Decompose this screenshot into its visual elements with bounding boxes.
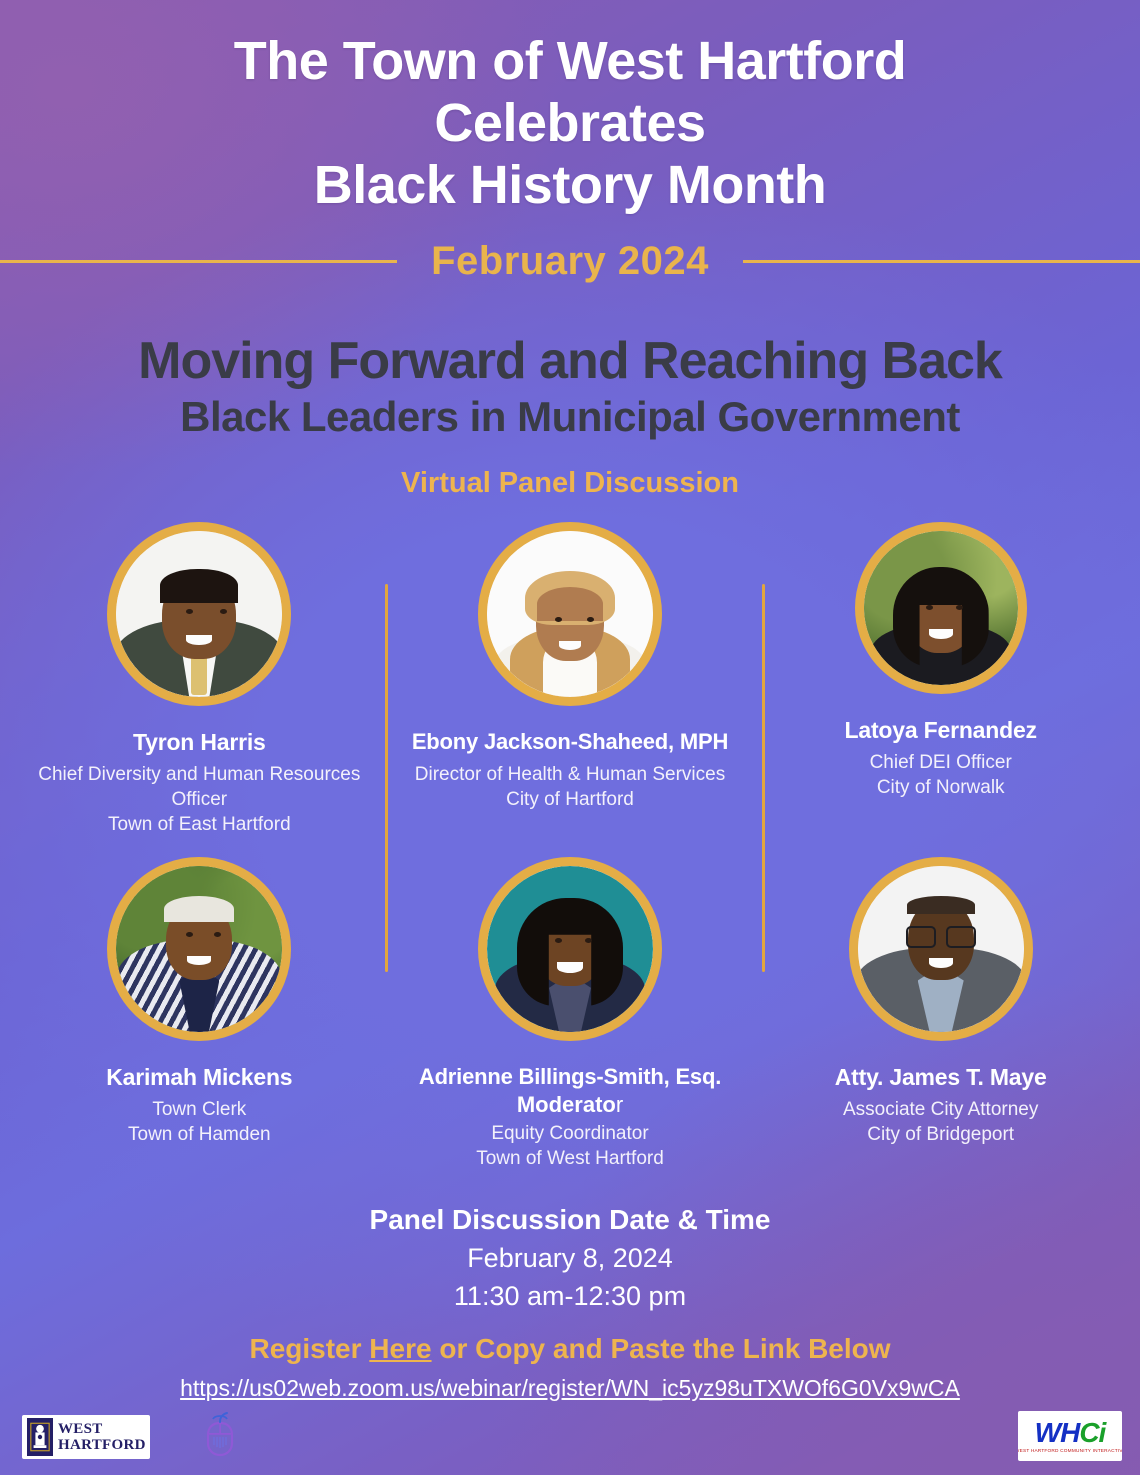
panelist-card: Karimah Mickens Town Clerk Town of Hamde… [14, 857, 385, 1147]
panelist-card: Ebony Jackson-Shaheed, MPH Director of H… [385, 522, 756, 812]
avatar [478, 857, 662, 1041]
panelist-org: Town of West Hartford [391, 1146, 750, 1171]
registration-prefix: Register [249, 1333, 369, 1364]
panelist-org: Town of East Hartford [20, 812, 379, 837]
panelist-name: Tyron Harris [20, 728, 379, 756]
divider-rule-right [743, 260, 1140, 263]
schedule-time: 11:30 am-12:30 pm [0, 1277, 1140, 1315]
registration-link-row: https://us02web.zoom.us/webinar/register… [0, 1373, 1140, 1403]
panelist-org: City of Hartford [391, 787, 750, 812]
avatar-wrap [20, 857, 379, 1041]
moderator-role: Moderator [391, 1091, 750, 1119]
registration-callout: Register Here or Copy and Paste the Link… [0, 1331, 1140, 1367]
panelist-row-1: Tyron Harris Chief Diversity and Human R… [14, 522, 1126, 837]
panelist-org: Town of Hamden [20, 1122, 379, 1147]
portrait-james-t-maye [858, 866, 1024, 1032]
event-subtitle: Black Leaders in Municipal Government [0, 392, 1140, 442]
schedule-block: Panel Discussion Date & Time February 8,… [0, 1201, 1140, 1315]
panelist-name: Ebony Jackson-Shaheed, MPH [391, 728, 750, 756]
logo-whci: WHCi WEST HARTFORD COMMUNITY INTERACTIVE [1018, 1411, 1122, 1461]
panelist-name: Adrienne Billings-Smith, Esq. [391, 1063, 750, 1091]
glasses-icon [906, 926, 976, 950]
avatar-wrap [761, 857, 1120, 1041]
logo-whci-wordmark: WHCi [1035, 1418, 1106, 1448]
avatar [107, 857, 291, 1041]
schedule-date: February 8, 2024 [0, 1239, 1140, 1277]
logo-whci-ci: Ci [1079, 1417, 1105, 1448]
title-block: Moving Forward and Reaching Back Black L… [0, 332, 1140, 500]
header-line-3: Black History Month [0, 154, 1140, 216]
panelist-org: City of Norwalk [761, 775, 1120, 800]
schedule-heading: Panel Discussion Date & Time [0, 1201, 1140, 1239]
avatar [478, 522, 662, 706]
panelist-card: Latoya Fernandez Chief DEI Officer City … [755, 522, 1126, 800]
register-here-link[interactable]: Here [369, 1333, 431, 1364]
logo-whci-wh: WH [1035, 1417, 1080, 1448]
moderator-role-bold: Moderato [517, 1092, 616, 1117]
logo-whci-tagline: WEST HARTFORD COMMUNITY INTERACTIVE [1018, 1448, 1122, 1454]
avatar [849, 857, 1033, 1041]
avatar-wrap [20, 522, 379, 706]
zoom-webinar-url[interactable]: https://us02web.zoom.us/webinar/register… [180, 1375, 960, 1401]
panelist-title-line-1: Associate City Attorney [761, 1097, 1120, 1122]
panelist-card: Atty. James T. Maye Associate City Attor… [755, 857, 1126, 1147]
poster-canvas: The Town of West Hartford Celebrates Bla… [0, 0, 1140, 1475]
avatar [855, 522, 1027, 694]
panelist-name: Atty. James T. Maye [761, 1063, 1120, 1091]
panelist-title-line-2: Officer [20, 787, 379, 812]
portrait-adrienne-billings-smith [487, 866, 653, 1032]
panelist-title-line-1: Chief DEI Officer [761, 750, 1120, 775]
logo-wh-line-1: WEST [58, 1421, 146, 1437]
portrait-karimah-mickens [116, 866, 282, 1032]
logo-west-hartford: WEST HARTFORD [22, 1415, 150, 1459]
column-divider-1 [385, 584, 388, 972]
panelist-title-line-1: Town Clerk [20, 1097, 379, 1122]
avatar-wrap [391, 522, 750, 706]
panelist-org: City of Bridgeport [761, 1122, 1120, 1147]
mouse-cursor-icon [203, 1409, 237, 1457]
moderator-role-thin: r [616, 1092, 623, 1117]
portrait-tyron-harris [116, 531, 282, 697]
panelist-title-line-1: Equity Coordinator [391, 1121, 750, 1146]
panelist-name: Karimah Mickens [20, 1063, 379, 1091]
portrait-latoya-fernandez [864, 531, 1018, 685]
panelist-grid: Tyron Harris Chief Diversity and Human R… [0, 522, 1140, 1171]
panelist-card-moderator: Adrienne Billings-Smith, Esq. Moderator … [385, 857, 756, 1171]
divider-rule-left [0, 260, 397, 263]
registration-suffix: or Copy and Paste the Link Below [432, 1333, 891, 1364]
event-month-badge: February 2024 [431, 239, 709, 283]
logo-west-hartford-wordmark: WEST HARTFORD [58, 1421, 146, 1453]
avatar [107, 522, 291, 706]
panelist-row-2: Karimah Mickens Town Clerk Town of Hamde… [14, 857, 1126, 1171]
header-line-2: Celebrates [0, 92, 1140, 154]
poster-header: The Town of West Hartford Celebrates Bla… [0, 0, 1140, 290]
column-divider-2 [762, 584, 765, 972]
portrait-ebony-jackson-shaheed [487, 531, 653, 697]
panelist-name: Latoya Fernandez [761, 716, 1120, 744]
panelist-card: Tyron Harris Chief Diversity and Human R… [14, 522, 385, 837]
panelist-title-line-1: Director of Health & Human Services [391, 762, 750, 787]
event-title: Moving Forward and Reaching Back [0, 332, 1140, 390]
avatar-wrap [391, 857, 750, 1041]
logo-wh-line-2: HARTFORD [58, 1437, 146, 1453]
panelist-title-line-1: Chief Diversity and Human Resources [20, 762, 379, 787]
event-format-label: Virtual Panel Discussion [0, 466, 1140, 500]
avatar-wrap [761, 522, 1120, 694]
header-line-1: The Town of West Hartford [0, 30, 1140, 92]
date-badge-row: February 2024 [0, 232, 1140, 290]
town-hall-icon [27, 1418, 53, 1456]
